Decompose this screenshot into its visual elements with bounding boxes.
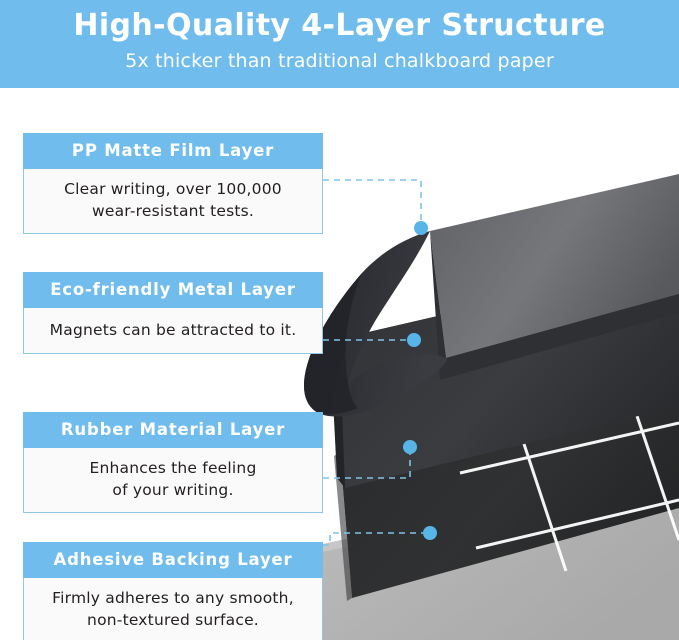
callout-body-rubber-material: Enhances the feeling of your writing. bbox=[23, 448, 323, 513]
callout-line: Enhances the feeling bbox=[30, 457, 316, 479]
callout-card-eco-friendly-metal[interactable]: Eco-friendly Metal Layer Magnets can be … bbox=[23, 272, 323, 354]
marker-adhesive-backing-dot bbox=[423, 526, 437, 540]
page-title: High-Quality 4-Layer Structure bbox=[0, 8, 679, 43]
callout-card-pp-matte-film[interactable]: PP Matte Film Layer Clear writing, over … bbox=[23, 133, 323, 234]
callout-line: Clear writing, over 100,000 bbox=[30, 178, 316, 200]
callout-line: wear-resistant tests. bbox=[30, 200, 316, 222]
callout-line: Firmly adheres to any smooth, bbox=[30, 587, 316, 609]
callout-body-eco-friendly-metal: Magnets can be attracted to it. bbox=[23, 308, 323, 354]
callout-title-rubber-material: Rubber Material Layer bbox=[23, 412, 323, 448]
callout-title-adhesive-backing: Adhesive Backing Layer bbox=[23, 542, 323, 578]
callout-card-rubber-material[interactable]: Rubber Material Layer Enhances the feeli… bbox=[23, 412, 323, 513]
callout-line: non-textured surface. bbox=[30, 609, 316, 631]
callout-title-eco-friendly-metal: Eco-friendly Metal Layer bbox=[23, 272, 323, 308]
marker-eco-friendly-metal-dot bbox=[407, 333, 421, 347]
marker-rubber-material-dot bbox=[403, 440, 417, 454]
infographic-page: High-Quality 4-Layer Structure 5x thicke… bbox=[0, 0, 679, 640]
callout-title-pp-matte-film: PP Matte Film Layer bbox=[23, 133, 323, 169]
callout-body-adhesive-backing: Firmly adheres to any smooth, non-textur… bbox=[23, 578, 323, 640]
marker-pp-matte-film-dot bbox=[414, 221, 428, 235]
callout-line: Magnets can be attracted to it. bbox=[30, 319, 316, 341]
page-subtitle: 5x thicker than traditional chalkboard p… bbox=[0, 50, 679, 72]
header-banner: High-Quality 4-Layer Structure 5x thicke… bbox=[0, 0, 679, 88]
callout-line: of your writing. bbox=[30, 479, 316, 501]
callout-body-pp-matte-film: Clear writing, over 100,000 wear-resista… bbox=[23, 169, 323, 234]
callout-card-adhesive-backing[interactable]: Adhesive Backing Layer Firmly adheres to… bbox=[23, 542, 323, 640]
